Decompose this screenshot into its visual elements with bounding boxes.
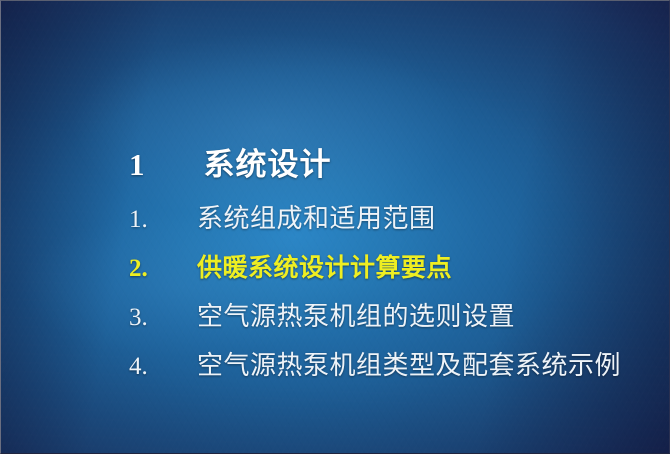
slide-title: 1 系统设计 <box>129 149 332 181</box>
slide-title-text: 系统设计 <box>204 150 332 181</box>
agenda-item-label: 空气源热泵机组的选则设置 <box>197 304 515 330</box>
agenda-item-number: 2. <box>129 256 197 281</box>
agenda-item-number: 4. <box>129 354 197 379</box>
agenda-item-number: 3. <box>129 305 197 330</box>
agenda-item-number: 1. <box>129 207 197 232</box>
agenda-item-label: 系统组成和适用范围 <box>197 206 436 232</box>
slide-title-number: 1 <box>129 149 145 180</box>
agenda-item-3[interactable]: 3. 空气源热泵机组的选则设置 <box>129 304 649 353</box>
agenda-item-2[interactable]: 2. 供暖系统设计计算要点 <box>129 255 649 304</box>
agenda-item-label: 空气源热泵机组类型及配套系统示例 <box>197 353 621 379</box>
slide-content: 1 系统设计 1. 系统组成和适用范围 2. 供暖系统设计计算要点 3. 空气源… <box>1 1 670 454</box>
presentation-slide: 1 系统设计 1. 系统组成和适用范围 2. 供暖系统设计计算要点 3. 空气源… <box>0 0 670 454</box>
agenda-item-1[interactable]: 1. 系统组成和适用范围 <box>129 206 649 255</box>
agenda-item-label: 供暖系统设计计算要点 <box>197 255 452 280</box>
agenda-item-4[interactable]: 4. 空气源热泵机组类型及配套系统示例 <box>129 353 649 402</box>
agenda-list: 1. 系统组成和适用范围 2. 供暖系统设计计算要点 3. 空气源热泵机组的选则… <box>129 206 649 402</box>
